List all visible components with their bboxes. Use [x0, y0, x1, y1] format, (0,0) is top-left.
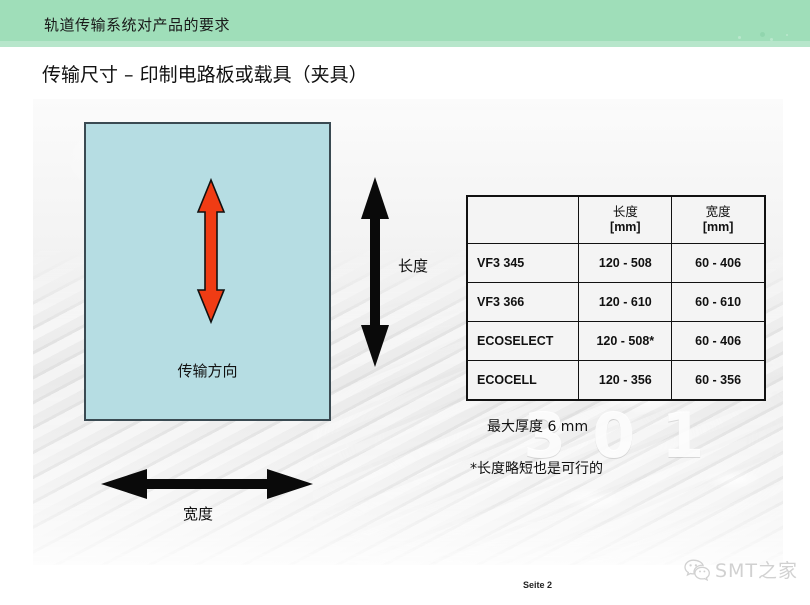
- max-thickness-note: 最大厚度 6 mm: [487, 416, 588, 436]
- transport-direction-label: 传输方向: [86, 360, 329, 381]
- page-number: Seite 2: [523, 580, 552, 590]
- slide-canvas: 轨道传输系统对产品的要求 传输尺寸 – 印制电路板或载具（夹具） 301 传输方…: [0, 0, 810, 605]
- brand-watermark: SMT之家: [684, 556, 798, 583]
- length-dimension-arrow-icon: [360, 177, 390, 367]
- width-dimension-arrow-icon: [101, 468, 313, 500]
- row-1-length: 120 - 610: [579, 283, 672, 322]
- table-row: ECOCELL 120 - 356 60 - 356: [467, 361, 765, 401]
- table-header-width: 宽度 [mm]: [672, 196, 765, 244]
- table-header-length-unit: [mm]: [579, 220, 671, 236]
- row-3-name: ECOCELL: [467, 361, 579, 401]
- table-header-width-cn: 宽度: [672, 204, 764, 220]
- header-band-fade: [0, 41, 810, 47]
- specification-table: 长度 [mm] 宽度 [mm] VF3 345 120 - 508 60 - 4…: [466, 195, 766, 401]
- row-0-name: VF3 345: [467, 244, 579, 283]
- row-2-length: 120 - 508*: [579, 322, 672, 361]
- header-watermark-dots: [730, 30, 800, 46]
- transport-direction-arrow-icon: [196, 178, 226, 324]
- row-0-width: 60 - 406: [672, 244, 765, 283]
- table-header-row: 长度 [mm] 宽度 [mm]: [467, 196, 765, 244]
- brand-label: SMT之家: [715, 556, 798, 583]
- row-3-length: 120 - 356: [579, 361, 672, 401]
- row-0-length: 120 - 508: [579, 244, 672, 283]
- table-header-length: 长度 [mm]: [579, 196, 672, 244]
- row-2-name: ECOSELECT: [467, 322, 579, 361]
- row-1-width: 60 - 610: [672, 283, 765, 322]
- page-title: 传输尺寸 – 印制电路板或载具（夹具）: [42, 60, 368, 87]
- header-title: 轨道传输系统对产品的要求: [44, 14, 230, 35]
- width-label: 宽度: [183, 503, 213, 524]
- table-header-length-cn: 长度: [579, 204, 671, 220]
- length-label: 长度: [398, 255, 428, 276]
- table-row: VF3 366 120 - 610 60 - 610: [467, 283, 765, 322]
- table-row: ECOSELECT 120 - 508* 60 - 406: [467, 322, 765, 361]
- footnote-note: *长度略短也是可行的: [470, 458, 603, 478]
- row-1-name: VF3 366: [467, 283, 579, 322]
- wechat-icon: [684, 559, 710, 581]
- table-row: VF3 345 120 - 508 60 - 406: [467, 244, 765, 283]
- table-header-blank: [467, 196, 579, 244]
- table-header-width-unit: [mm]: [672, 220, 764, 236]
- row-2-width: 60 - 406: [672, 322, 765, 361]
- row-3-width: 60 - 356: [672, 361, 765, 401]
